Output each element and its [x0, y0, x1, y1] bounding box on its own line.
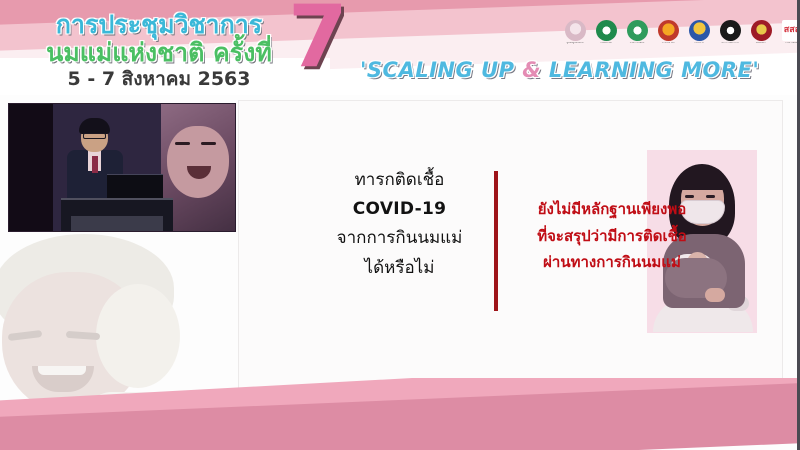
- mother-hair-front: [678, 166, 727, 190]
- answer-text-block: ยังไม่มีหลักฐานเพียงพอ ที่จะสรุปว่ามีการ…: [498, 196, 726, 276]
- answer-line-1: ยังไม่มีหลักฐานเพียงพอ: [498, 196, 726, 223]
- conference-tagline: 'SCALING UP & LEARNING MORE': [360, 58, 759, 82]
- logo-caption: Thai Health: [779, 42, 800, 45]
- sponsor-logo-row: มูลนิธิศูนย์นมแม่ กรมอนามัย กรมการแพทย์ …: [562, 20, 800, 45]
- royal-patronage-emblem-icon: [565, 20, 586, 41]
- ministry-public-health-logo-icon: [596, 20, 617, 41]
- logo-caption: กรมอนามัย: [593, 42, 619, 45]
- logo-item: กระทรวง: [686, 20, 712, 45]
- slide-bottom-band: [0, 378, 800, 450]
- logo-item: กรมอนามัย: [593, 20, 619, 45]
- projected-baby-eye-left: [175, 142, 190, 145]
- logo-caption: ราชวิทยาลัย: [655, 42, 681, 45]
- logo-caption: สภาการพยาบาล: [717, 42, 743, 45]
- conference-edition-number: 7: [288, 0, 348, 80]
- speaker-hair: [79, 118, 110, 134]
- thaihealth-sss-logo-icon: สสส: [782, 20, 800, 41]
- speaker-glasses-icon: [83, 133, 106, 139]
- slide-header-banner: การประชุมวิชาการ นมแม่แห่งชาติ ครั้งที่ …: [0, 0, 800, 95]
- presentation-slide: การประชุมวิชาการ นมแม่แห่งชาติ ครั้งที่ …: [0, 0, 800, 450]
- answer-line-3: ผ่านทางการกินนมแม่: [498, 249, 726, 276]
- nursing-council-logo-icon: [720, 20, 741, 41]
- logo-caption: มูลนิธิศูนย์นมแม่: [562, 42, 588, 45]
- speaker-tie: [92, 156, 98, 173]
- tagline-ampersand: &: [522, 58, 541, 82]
- logo-caption: แพทยสภา: [748, 42, 774, 45]
- question-text-block: ทารกติดเชื้อ COVID-19 จากการกินนมแม่ ได้…: [312, 166, 487, 283]
- conference-date: 5 - 7 สิงหาคม 2563: [24, 64, 294, 94]
- question-line-4: ได้หรือไม่: [312, 254, 487, 283]
- royal-crest-logo-icon: [689, 20, 710, 41]
- question-line-1: ทารกติดเชื้อ: [312, 166, 487, 195]
- photo-wall-left: [9, 104, 53, 232]
- department-health-logo-icon: [627, 20, 648, 41]
- mother-hand: [705, 288, 725, 302]
- baby-hat-brim: [96, 284, 180, 388]
- logo-caption: กระทรวง: [686, 42, 712, 45]
- tagline-part-2: LEARNING MORE': [541, 58, 759, 82]
- logo-item: กรมการแพทย์: [624, 20, 650, 45]
- logo-item: สสสThai Health: [779, 20, 800, 45]
- logo-item: มูลนิธิศูนย์นมแม่: [562, 20, 588, 45]
- question-line-2: COVID-19: [312, 195, 487, 224]
- logo-item: ราชวิทยาลัย: [655, 20, 681, 45]
- logo-caption: กรมการแพทย์: [624, 42, 650, 45]
- speaker-podium-photo: [8, 103, 236, 232]
- royal-college-logo-icon: [658, 20, 679, 41]
- tagline-part-1: 'SCALING UP: [360, 58, 522, 82]
- logo-item: แพทยสภา: [748, 20, 774, 45]
- podium-base: [71, 216, 163, 232]
- baby-teeth: [38, 366, 86, 375]
- question-line-3: จากการกินนมแม่: [312, 224, 487, 253]
- medical-council-logo-icon: [751, 20, 772, 41]
- logo-item: สภาการพยาบาล: [717, 20, 743, 45]
- projected-baby-eye-right: [201, 142, 216, 145]
- projected-baby-face: [167, 126, 229, 198]
- answer-line-2: ที่จะสรุปว่ามีการติดเชื้อ: [498, 223, 726, 250]
